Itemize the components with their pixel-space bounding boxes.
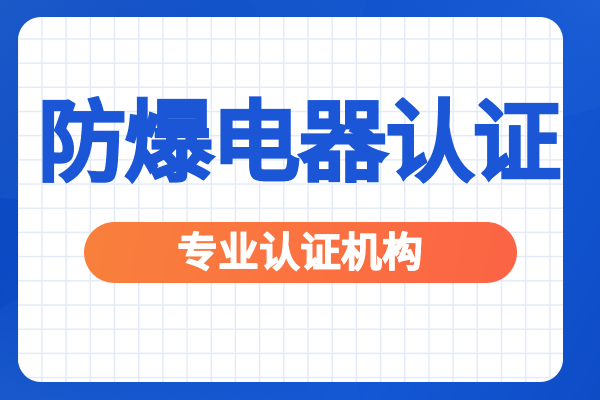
status-badge: 专业认证机构	[84, 222, 517, 283]
status-badge-label: 专业认证机构	[178, 233, 424, 273]
page-title: 防爆电器认证	[38, 99, 543, 187]
promo-poster: 防爆电器认证 专业认证机构	[0, 0, 600, 400]
card-content: 防爆电器认证 专业认证机构	[18, 17, 563, 382]
grid-paper-card: 防爆电器认证 专业认证机构	[18, 17, 563, 382]
